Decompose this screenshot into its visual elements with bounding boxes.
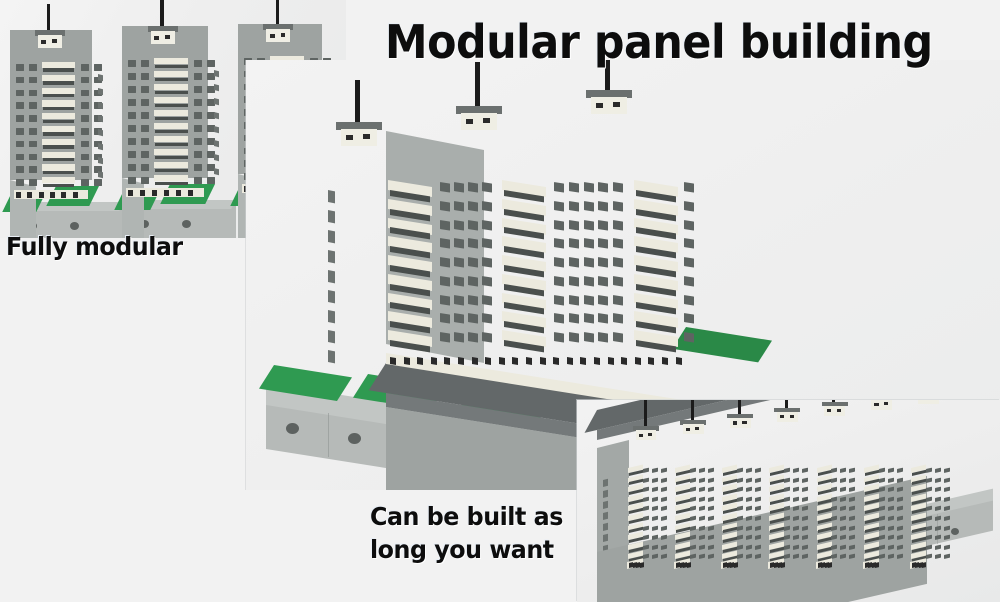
- tower-window: [194, 138, 202, 145]
- facade-window: [652, 468, 658, 474]
- facade-window: [684, 201, 694, 212]
- tower-window: [128, 164, 136, 171]
- rooftop-antenna-unit: [35, 30, 65, 48]
- facade-window: [784, 496, 790, 502]
- facade-window: [802, 496, 808, 502]
- facade-window: [482, 295, 492, 306]
- rooftop-antenna-unit: [633, 426, 659, 440]
- facade-window: [598, 238, 608, 249]
- facade-window: [554, 332, 564, 343]
- facade-window: [755, 487, 761, 493]
- antenna-box-window: [827, 409, 831, 412]
- facade-window: [684, 220, 694, 231]
- entrance-window: [594, 357, 600, 365]
- antenna-box-window: [742, 421, 746, 424]
- antenna-box-window: [613, 102, 620, 107]
- facade-window: [468, 201, 478, 212]
- tower-window: [29, 102, 37, 109]
- tower-window: [94, 64, 102, 71]
- facade-window: [935, 554, 941, 560]
- facade-window: [926, 487, 932, 493]
- tower-window: [128, 151, 136, 158]
- entrance-window: [640, 562, 644, 568]
- facade-window: [482, 220, 492, 231]
- tower-window: [81, 64, 89, 71]
- facade-window: [699, 496, 705, 502]
- facade-window: [926, 544, 932, 550]
- facade-window: [468, 295, 478, 306]
- balcony-railing: [155, 91, 188, 94]
- caption-built-as-long: Can be built as long you want: [370, 500, 563, 566]
- facade-window: [482, 276, 492, 287]
- tower-window: [94, 179, 102, 186]
- facade-window: [554, 220, 564, 231]
- entrance-window: [404, 357, 410, 365]
- balcony-railing: [43, 68, 74, 71]
- facade-window: [746, 477, 752, 483]
- balcony-railing: [43, 81, 74, 84]
- antenna-box-window: [466, 119, 473, 124]
- facade-window: [584, 276, 594, 287]
- tower-window: [194, 73, 202, 80]
- facade-window: [613, 332, 623, 343]
- entrance-window: [635, 357, 641, 365]
- tower-window: [81, 102, 89, 109]
- facade-window: [569, 313, 579, 324]
- facade-window: [569, 257, 579, 268]
- poster-canvas: Modular panel building Fully modular Can…: [0, 0, 1000, 602]
- facade-window: [584, 257, 594, 268]
- facade-window: [944, 487, 950, 493]
- antenna-box-window: [639, 434, 643, 437]
- entrance-window: [27, 192, 32, 198]
- antenna-box-window: [281, 33, 286, 37]
- antenna-rod: [644, 400, 647, 426]
- facade-window: [690, 477, 696, 483]
- facade-window: [690, 506, 696, 512]
- facade-window: [613, 295, 623, 306]
- facade-window: [661, 525, 667, 531]
- entrance-window: [417, 357, 423, 365]
- facade-window: [643, 487, 649, 493]
- tower-window: [141, 86, 149, 93]
- tower-window: [194, 177, 202, 184]
- tower-side-window: [98, 102, 103, 109]
- entrance-window: [781, 562, 785, 568]
- facade-window: [802, 487, 808, 493]
- entrance-window: [444, 357, 450, 365]
- side-window: [603, 534, 608, 542]
- antenna-box-window: [695, 427, 699, 430]
- rooftop-antenna-unit: [456, 106, 502, 130]
- entrance-window: [152, 190, 157, 196]
- facade-window: [793, 477, 799, 483]
- facade-window: [584, 332, 594, 343]
- side-window: [328, 270, 335, 283]
- facade-window: [569, 182, 579, 193]
- facade-window: [598, 276, 608, 287]
- entrance-window: [16, 192, 21, 198]
- facade-window: [784, 487, 790, 493]
- facade-window: [643, 468, 649, 474]
- facade-window: [755, 496, 761, 502]
- tower-window: [128, 86, 136, 93]
- tower-window: [194, 125, 202, 132]
- facade-window: [661, 487, 667, 493]
- entrance-window: [580, 357, 586, 365]
- facade-window: [584, 313, 594, 324]
- facade-window: [935, 544, 941, 550]
- side-window: [328, 250, 335, 263]
- side-window: [603, 512, 608, 520]
- antenna-box-window: [346, 135, 353, 140]
- facade-window: [746, 496, 752, 502]
- facade-window: [690, 496, 696, 502]
- facade-window: [944, 554, 950, 560]
- tower-window: [16, 77, 24, 84]
- tower-window: [128, 73, 136, 80]
- facade-window: [569, 238, 579, 249]
- antenna-box-window: [686, 428, 690, 431]
- tower-window: [128, 99, 136, 106]
- tower-2: [122, 26, 230, 238]
- facade-window: [684, 313, 694, 324]
- tower-window: [81, 77, 89, 84]
- entrance-window: [458, 357, 464, 365]
- tower-side-window: [214, 70, 219, 77]
- entrance-window: [567, 357, 573, 365]
- facade-window: [926, 468, 932, 474]
- tower-facade-side: [10, 180, 36, 238]
- side-window: [328, 310, 335, 323]
- facade-window: [684, 276, 694, 287]
- facade-window: [699, 487, 705, 493]
- facade-window: [643, 516, 649, 522]
- balcony-slab: [154, 136, 188, 142]
- facade-window: [737, 487, 743, 493]
- balcony-slab: [154, 123, 188, 129]
- facade-window: [699, 506, 705, 512]
- antenna-box-window: [41, 40, 46, 44]
- facade-window: [652, 525, 658, 531]
- facade-window: [661, 477, 667, 483]
- side-window: [328, 290, 335, 303]
- rooftop-antenna-unit: [148, 26, 178, 44]
- tower-window: [81, 90, 89, 97]
- tower-window: [29, 64, 37, 71]
- balcony-slab: [42, 88, 75, 94]
- tower-window: [16, 166, 24, 173]
- facade-window: [888, 477, 894, 483]
- tower-side-window: [98, 88, 103, 95]
- tower-window: [141, 125, 149, 132]
- facade-window: [652, 477, 658, 483]
- facade-window: [454, 276, 464, 287]
- facade-window: [584, 201, 594, 212]
- tower-side-window: [98, 157, 103, 164]
- facade-window: [440, 201, 450, 212]
- facade-window: [831, 477, 837, 483]
- tower-window: [29, 154, 37, 161]
- antenna-box-window: [874, 403, 878, 406]
- tower-window: [29, 179, 37, 186]
- side-window: [328, 210, 335, 223]
- tower-window: [29, 166, 37, 173]
- facade-window: [613, 238, 623, 249]
- antenna-rod: [276, 0, 279, 24]
- facade-window: [793, 468, 799, 474]
- tower-side-window: [214, 112, 219, 119]
- tower-window: [128, 138, 136, 145]
- facade-window: [454, 201, 464, 212]
- balcony-railing: [155, 104, 188, 107]
- facade-window: [897, 468, 903, 474]
- facade-window: [879, 468, 885, 474]
- tower-window: [81, 141, 89, 148]
- entrance-window: [431, 357, 437, 365]
- facade-window: [684, 295, 694, 306]
- facade-window: [554, 238, 564, 249]
- facade-window: [708, 468, 714, 474]
- tower-window: [194, 151, 202, 158]
- tower-window: [16, 90, 24, 97]
- balcony-slab: [42, 152, 75, 158]
- facade-window: [690, 516, 696, 522]
- facade-window: [746, 487, 752, 493]
- side-window: [328, 190, 335, 203]
- entrance-window: [390, 357, 396, 365]
- facade-window: [840, 477, 846, 483]
- balcony-railing: [155, 169, 188, 172]
- facade-window: [784, 477, 790, 483]
- rooftop-antenna-unit: [727, 414, 753, 428]
- tower-side-window: [98, 143, 103, 150]
- balcony-slab: [42, 62, 75, 68]
- facade-window: [802, 477, 808, 483]
- facade-window: [831, 468, 837, 474]
- long-side-face: [597, 440, 629, 560]
- tower-window: [141, 73, 149, 80]
- entrance-window: [73, 192, 78, 198]
- balcony-slab: [154, 175, 188, 181]
- caption-line-2: long you want: [370, 533, 563, 566]
- tower-window: [16, 102, 24, 109]
- tower-window: [141, 138, 149, 145]
- rooftop-antenna-unit: [916, 400, 942, 403]
- facade-window: [926, 496, 932, 502]
- antenna-rod: [47, 4, 50, 30]
- balcony-railing: [43, 145, 74, 148]
- tower-side-window: [214, 84, 219, 91]
- entrance-window: [676, 357, 682, 365]
- facade-window: [699, 468, 705, 474]
- facade-window: [584, 182, 594, 193]
- tower-window: [16, 115, 24, 122]
- tower-window: [194, 112, 202, 119]
- facade-window: [684, 182, 694, 193]
- balcony-railing: [43, 107, 74, 110]
- facade-window: [584, 295, 594, 306]
- facade-window: [708, 516, 714, 522]
- antenna-box-window: [363, 134, 370, 139]
- facade-window: [793, 487, 799, 493]
- tower-window: [16, 64, 24, 71]
- facade-window: [482, 201, 492, 212]
- balcony-slab: [42, 75, 75, 81]
- tower-window: [207, 60, 215, 67]
- facade-window: [468, 220, 478, 231]
- entrance-window: [188, 190, 193, 196]
- side-window: [603, 490, 608, 498]
- facade-window: [935, 487, 941, 493]
- tower-window: [128, 125, 136, 132]
- facade-window: [737, 506, 743, 512]
- rooftop-antenna-unit: [774, 408, 800, 422]
- antenna-rod: [355, 80, 360, 122]
- facade-window: [661, 506, 667, 512]
- entrance-window: [553, 357, 559, 365]
- balcony-slab: [42, 113, 75, 119]
- balcony-railing: [43, 171, 74, 174]
- facade-window: [643, 496, 649, 502]
- facade-window: [755, 468, 761, 474]
- facade-window: [569, 201, 579, 212]
- facade-window: [708, 496, 714, 502]
- facade-window: [554, 257, 564, 268]
- antenna-rod: [691, 400, 694, 420]
- facade-window: [746, 506, 752, 512]
- facade-window: [569, 332, 579, 343]
- entrance-window: [608, 357, 614, 365]
- balcony-slab: [42, 164, 75, 170]
- caption-line-1: Can be built as: [370, 500, 563, 533]
- tower-window: [128, 177, 136, 184]
- antenna-box-window: [52, 39, 57, 43]
- side-window: [603, 501, 608, 509]
- facade-window: [454, 220, 464, 231]
- facade-window: [652, 516, 658, 522]
- facade-window: [554, 295, 564, 306]
- rooftop-antenna-unit: [263, 24, 293, 42]
- antenna-box-window: [837, 409, 841, 412]
- antenna-rod: [160, 0, 163, 26]
- facade-window: [482, 182, 492, 193]
- facade-window: [737, 496, 743, 502]
- entrance-window: [472, 357, 478, 365]
- tower-window: [141, 164, 149, 171]
- facade-window: [684, 257, 694, 268]
- facade-window: [468, 182, 478, 193]
- sidewalk-stud: [182, 220, 191, 228]
- facade-window: [454, 295, 464, 306]
- antenna-box-window: [165, 35, 170, 39]
- balcony-slab: [154, 162, 188, 168]
- entrance-window: [61, 192, 66, 198]
- antenna-box-window: [154, 36, 159, 40]
- tower-side-window: [214, 98, 219, 105]
- balcony-railing: [43, 94, 74, 97]
- balcony-slab: [154, 71, 188, 77]
- balcony-railing: [155, 65, 188, 68]
- tower-window: [29, 115, 37, 122]
- balcony-railing: [155, 182, 188, 185]
- entrance-window: [140, 190, 145, 196]
- tower-window: [81, 115, 89, 122]
- facade-window: [944, 477, 950, 483]
- facade-window: [554, 276, 564, 287]
- facade-window: [793, 496, 799, 502]
- facade-window: [708, 506, 714, 512]
- facade-window: [554, 182, 564, 193]
- balcony-railing: [43, 132, 74, 135]
- side-window: [328, 350, 335, 363]
- sidewalk-seam: [328, 413, 329, 457]
- facade-window: [440, 182, 450, 193]
- tower-window: [194, 164, 202, 171]
- facade-window: [849, 468, 855, 474]
- tower-side-window: [98, 74, 103, 81]
- tower-window: [81, 128, 89, 135]
- tower-window: [81, 179, 89, 186]
- antenna-box-window: [790, 415, 794, 418]
- facade-window: [690, 468, 696, 474]
- facade-window: [584, 238, 594, 249]
- facade-window: [613, 276, 623, 287]
- facade-window: [926, 477, 932, 483]
- tower-window: [128, 112, 136, 119]
- tower-side-window: [214, 126, 219, 133]
- balcony-slab: [154, 110, 188, 116]
- antenna-box-window: [596, 103, 603, 108]
- facade-window: [440, 276, 450, 287]
- facade-window: [708, 477, 714, 483]
- facade-window: [661, 496, 667, 502]
- balcony-slab: [154, 97, 188, 103]
- facade-window: [840, 487, 846, 493]
- facade-window: [831, 487, 837, 493]
- facade-window: [737, 468, 743, 474]
- entrance-window: [540, 357, 546, 365]
- antenna-box-window: [648, 433, 652, 436]
- balcony-slab: [154, 149, 188, 155]
- rooftop-antenna-unit: [869, 400, 895, 409]
- facade-window: [643, 525, 649, 531]
- facade-window: [584, 220, 594, 231]
- entrance-window: [734, 562, 738, 568]
- facade-window: [879, 477, 885, 483]
- facade-window: [613, 257, 623, 268]
- rooftop-antenna-unit: [822, 402, 848, 416]
- facade-window: [690, 487, 696, 493]
- facade-window: [598, 257, 608, 268]
- tower-window: [194, 99, 202, 106]
- facade-window: [613, 201, 623, 212]
- balcony-slab: [154, 58, 188, 64]
- tower-window: [29, 141, 37, 148]
- facade-window: [737, 477, 743, 483]
- facade-window: [598, 182, 608, 193]
- antenna-box-window: [733, 421, 737, 424]
- facade-window: [784, 468, 790, 474]
- tower-window: [141, 151, 149, 158]
- facade-window: [613, 313, 623, 324]
- antenna-box-window: [884, 402, 888, 405]
- balcony-slab: [154, 84, 188, 90]
- rooftop-antenna-unit: [586, 90, 632, 114]
- balcony-railing: [155, 78, 188, 81]
- balcony-slab: [42, 177, 75, 183]
- facade-window: [888, 468, 894, 474]
